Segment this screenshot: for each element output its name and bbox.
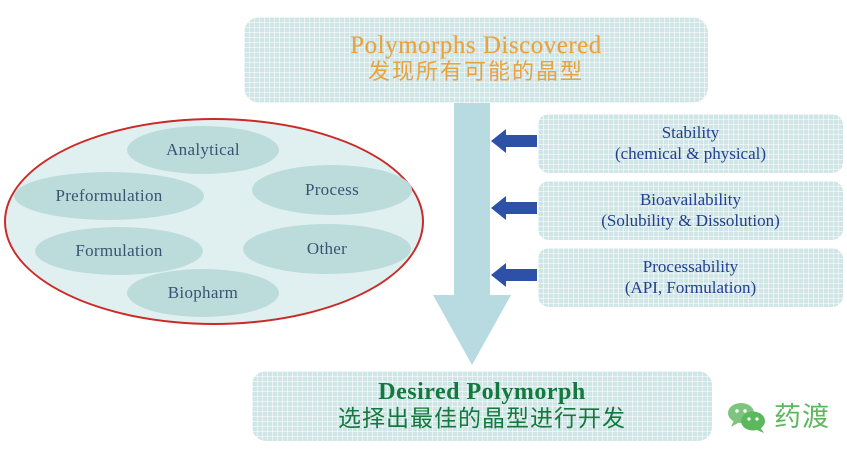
factor-subtitle: (API, Formulation) xyxy=(625,278,756,298)
left-arrow-icon-bioavailability xyxy=(491,195,537,221)
desired-polymorph-box: Desired Polymorph 选择出最佳的晶型进行开发 xyxy=(252,371,712,441)
bubble-label: Process xyxy=(305,180,359,200)
factor-box-bioavailability: Bioavailability (Solubility & Dissolutio… xyxy=(538,181,843,240)
bubble-analytical: Analytical xyxy=(127,126,279,174)
bubble-biopharm: Biopharm xyxy=(127,269,279,317)
bubble-label: Other xyxy=(307,239,347,259)
bubble-other: Other xyxy=(243,224,411,274)
bubble-label: Formulation xyxy=(75,241,162,261)
top-box-title-cn: 发现所有可能的晶型 xyxy=(368,59,584,87)
left-arrow-icon-processability xyxy=(491,262,537,288)
bottom-box-title-en: Desired Polymorph xyxy=(378,379,585,405)
polymorphs-discovered-box: Polymorphs Discovered 发现所有可能的晶型 xyxy=(244,17,708,103)
factor-subtitle: (Solubility & Dissolution) xyxy=(601,211,780,231)
polymorph-screening-group: Analytical Preformulation Process Formul… xyxy=(0,112,432,332)
factor-subtitle: (chemical & physical) xyxy=(615,144,766,164)
factor-box-stability: Stability (chemical & physical) xyxy=(538,114,843,173)
top-box-title-en: Polymorphs Discovered xyxy=(350,33,601,59)
factor-title: Bioavailability xyxy=(640,190,741,210)
bubble-preformulation: Preformulation xyxy=(14,172,204,220)
left-arrow-icon-stability xyxy=(491,128,537,154)
factor-title: Stability xyxy=(662,123,720,143)
polymorph-workflow-diagram: Polymorphs Discovered 发现所有可能的晶型 Analytic… xyxy=(0,0,847,449)
bubble-formulation: Formulation xyxy=(35,227,203,275)
bubble-label: Preformulation xyxy=(55,186,162,206)
brand-wordmark: 药渡 xyxy=(774,404,830,431)
bubble-label: Analytical xyxy=(166,140,240,160)
bubble-process: Process xyxy=(252,165,412,215)
factor-title: Processability xyxy=(643,257,738,277)
wechat-bubbles-icon xyxy=(726,401,768,433)
bubble-label: Biopharm xyxy=(168,283,238,303)
factor-box-processability: Processability (API, Formulation) xyxy=(538,248,843,307)
brand-logo: 药渡 xyxy=(726,396,838,438)
bottom-box-title-cn: 选择出最佳的晶型进行开发 xyxy=(338,405,626,433)
